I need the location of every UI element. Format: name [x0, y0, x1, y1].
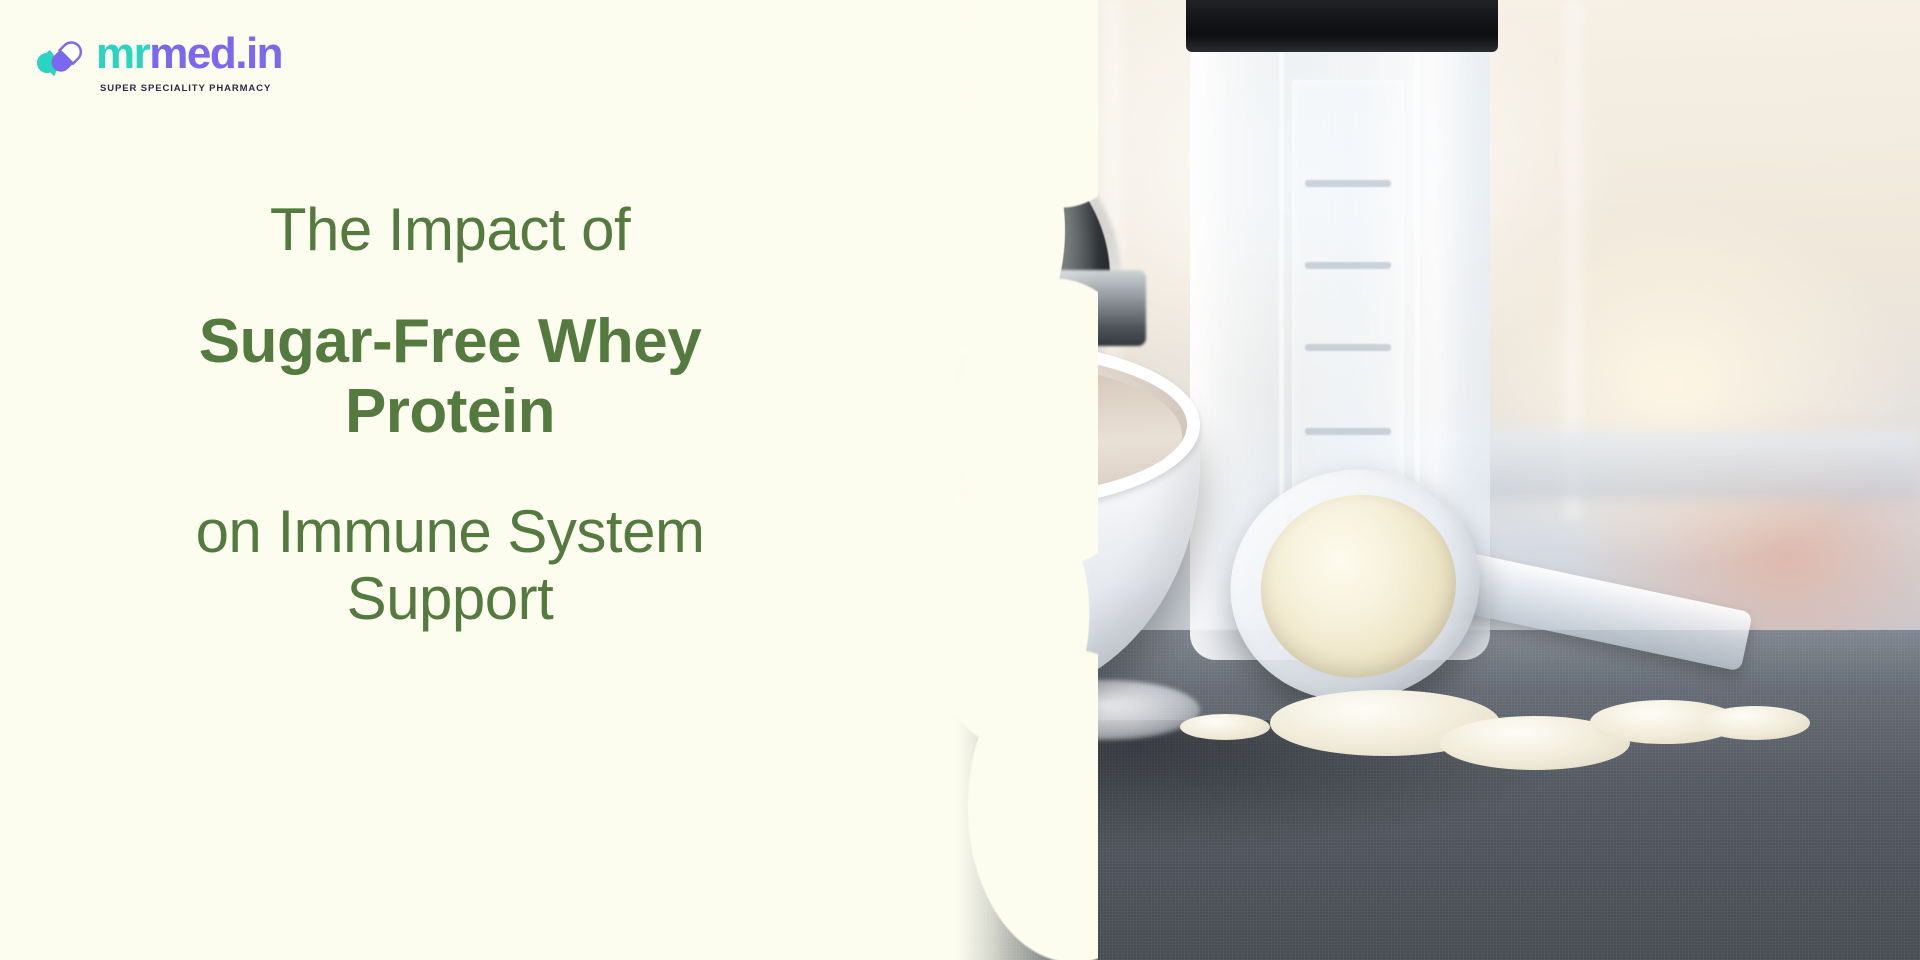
blog-banner: mrmed.in SUPER SPECIALITY PHARMACY The I…	[0, 0, 1920, 960]
content-panel: mrmed.in SUPER SPECIALITY PHARMACY The I…	[0, 0, 900, 960]
shaker-tick	[1305, 344, 1391, 351]
logo-wordmark-part1: mr	[96, 29, 149, 78]
shaker-tick	[1305, 428, 1391, 435]
logo-wordmark-part2: med.in	[149, 29, 282, 78]
headline-spacer	[0, 446, 900, 498]
spilled-powder	[1180, 714, 1270, 740]
headline-line-2: Sugar-Free Whey	[0, 307, 900, 376]
logo-tagline: SUPER SPECIALITY PHARMACY	[100, 83, 271, 94]
shaker-tick	[1305, 262, 1391, 269]
pill-check-icon	[36, 38, 90, 82]
headline-line-4: on Immune System	[0, 498, 900, 565]
spilled-powder	[1700, 706, 1810, 740]
scoop-powder	[1241, 474, 1475, 698]
headline-line-3: Protein	[0, 377, 900, 446]
shaker-lid	[1186, 0, 1498, 52]
site-logo[interactable]: mrmed.in SUPER SPECIALITY PHARMACY	[36, 34, 266, 100]
logo-wordmark: mrmed.in	[96, 32, 282, 76]
shaker-tick	[1305, 180, 1391, 187]
shaker-measure-window	[1292, 80, 1404, 520]
hero-photo	[800, 0, 1920, 960]
headline-line-5: Support	[0, 565, 900, 632]
headline-spacer	[0, 263, 900, 307]
headline-line-1: The Impact of	[0, 196, 900, 263]
page-title: The Impact of Sugar-Free Whey Protein on…	[0, 196, 900, 632]
